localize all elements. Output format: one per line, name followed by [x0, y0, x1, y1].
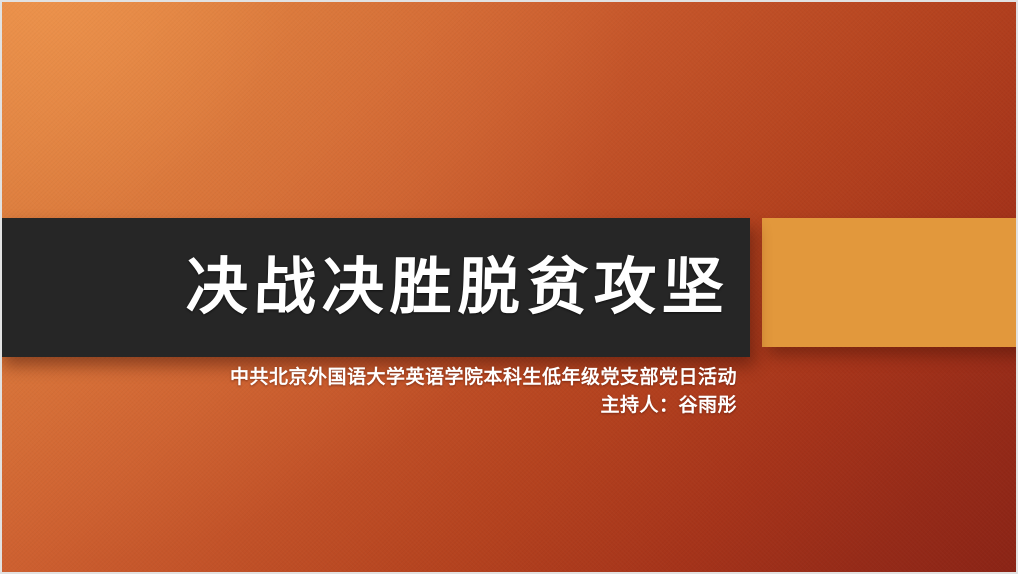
subtitle-line-host: 主持人：谷雨彤: [2, 392, 737, 420]
presentation-slide: 决战决胜脱贫攻坚 中共北京外国语大学英语学院本科生低年级党支部党日活动 主持人：…: [0, 0, 1018, 574]
slide-title: 决战决胜脱贫攻坚: [185, 257, 731, 319]
title-bar: 决战决胜脱贫攻坚: [0, 218, 750, 357]
subtitle-line-organization: 中共北京外国语大学英语学院本科生低年级党支部党日活动: [2, 364, 737, 392]
subtitle-block: 中共北京外国语大学英语学院本科生低年级党支部党日活动 主持人：谷雨彤: [2, 364, 737, 420]
accent-block-orange: [762, 218, 1018, 347]
